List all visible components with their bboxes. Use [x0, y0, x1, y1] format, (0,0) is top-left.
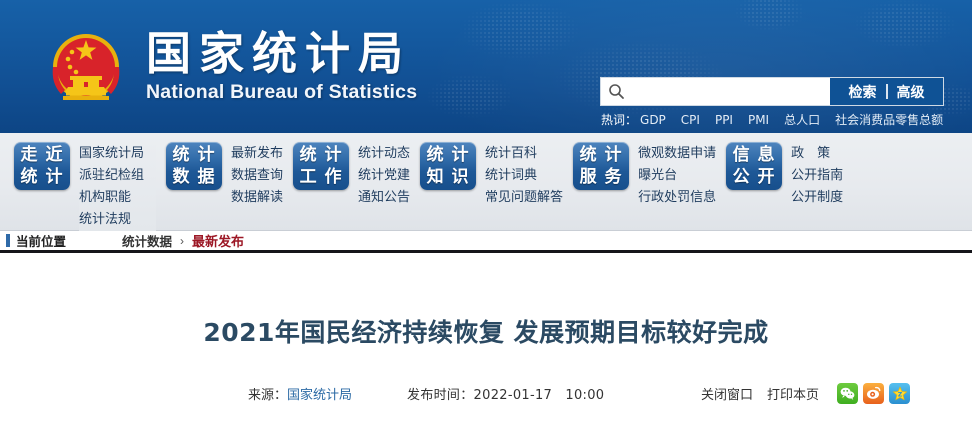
breadcrumb-accent-icon [6, 234, 10, 247]
hot-word-ppi[interactable]: PPI [715, 113, 733, 127]
main-navigation: 走 近 统 计 国家统计局 派驻纪检组 机构职能 统计法规 统 计 数 据 最新… [0, 133, 972, 231]
nav-link-regulations[interactable]: 统计法规 [79, 209, 144, 231]
share-icons: Z [837, 383, 910, 404]
nav-group-statistical-data: 统 计 数 据 最新发布 数据查询 数据解读 [166, 142, 283, 231]
nav-link-discipline-group[interactable]: 派驻纪检组 [79, 165, 144, 187]
time-value: 2022-01-17 10:00 [474, 388, 605, 403]
breadcrumb: 当前位置 统计数据 › 最新发布 [0, 231, 972, 253]
nav-group-statistical-services: 统 计 服 务 微观数据申请 曝光台 行政处罚信息 [573, 142, 716, 231]
search-submit-button[interactable]: 检索 [840, 82, 886, 102]
nav-button-line1: 走 近 [21, 144, 64, 166]
nav-button-statistical-services[interactable]: 统 计 服 务 [573, 142, 629, 190]
nav-button-statistical-data[interactable]: 统 计 数 据 [166, 142, 222, 190]
nav-row: 走 近 统 计 国家统计局 派驻纪检组 机构职能 统计法规 统 计 数 据 最新… [0, 133, 972, 231]
favorite-star-icon[interactable]: Z [889, 383, 910, 404]
nav-link-statistical-news[interactable]: 统计动态 [358, 143, 410, 165]
article-meta: 来源：国家统计局 发布时间：2022-01-17 10:00 关闭窗口 打印本页 [0, 383, 972, 404]
source-label: 来源： [248, 388, 287, 403]
nav-button-statistical-work[interactable]: 统 计 工 作 [293, 142, 349, 190]
nav-link-faq[interactable]: 常见问题解答 [485, 187, 563, 209]
nav-button-line2: 知 识 [427, 166, 470, 188]
nav-link-data-query[interactable]: 数据查询 [231, 165, 283, 187]
weibo-icon[interactable] [863, 383, 884, 404]
search-field[interactable] [601, 78, 830, 105]
nav-link-announcements[interactable]: 通知公告 [358, 187, 410, 209]
time-label: 发布时间： [407, 388, 474, 403]
nav-button-line2: 公 开 [733, 166, 776, 188]
wechat-icon[interactable] [837, 383, 858, 404]
article-source: 来源：国家统计局 [248, 384, 352, 403]
nav-button-line1: 信 息 [733, 144, 776, 166]
nav-button-line1: 统 计 [173, 144, 216, 166]
close-window-button[interactable]: 关闭窗口 [701, 384, 753, 403]
breadcrumb-current: 最新发布 [192, 231, 244, 250]
nav-group-approach-statistics: 走 近 统 计 国家统计局 派驻纪检组 机构职能 统计法规 [14, 142, 156, 231]
nav-button-approach-statistics[interactable]: 走 近 统 计 [14, 142, 70, 190]
print-page-button[interactable]: 打印本页 [767, 384, 819, 403]
nav-button-line2: 统 计 [21, 166, 64, 188]
nav-link-policy[interactable]: 政 策 [791, 143, 843, 165]
nav-button-statistical-knowledge[interactable]: 统 计 知 识 [420, 142, 476, 190]
nav-button-line2: 数 据 [173, 166, 216, 188]
nav-link-bureau[interactable]: 国家统计局 [79, 143, 144, 165]
article: 2021年国民经济持续恢复 发展预期目标较好完成 来源：国家统计局 发布时间：2… [0, 253, 972, 404]
nav-links-information-disclosure: 政 策 公开指南 公开制度 [791, 142, 843, 209]
nav-links-statistical-work: 统计动态 统计党建 通知公告 [358, 142, 410, 209]
hot-word-population[interactable]: 总人口 [784, 111, 820, 128]
nav-button-line1: 统 计 [427, 144, 470, 166]
nav-group-statistical-knowledge: 统 计 知 识 统计百科 统计词典 常见问题解答 [420, 142, 563, 231]
nav-link-disclosure-system[interactable]: 公开制度 [791, 187, 843, 209]
advanced-search-button[interactable]: 高级 [888, 82, 934, 102]
nav-link-functions[interactable]: 机构职能 [79, 187, 144, 209]
site-header: 国家统计局 National Bureau of Statistics 检索 高… [0, 0, 972, 133]
search-bar[interactable]: 检索 高级 [600, 77, 944, 106]
breadcrumb-parent[interactable]: 统计数据 [122, 231, 172, 250]
nav-link-data-interpretation[interactable]: 数据解读 [231, 187, 283, 209]
nav-button-line1: 统 计 [300, 144, 343, 166]
nav-button-line2: 工 作 [300, 166, 343, 188]
article-actions: 关闭窗口 打印本页 [687, 383, 910, 404]
nav-button-information-disclosure[interactable]: 信 息 公 开 [726, 142, 782, 190]
national-emblem-icon [46, 26, 126, 108]
nav-link-microdata-application[interactable]: 微观数据申请 [638, 143, 716, 165]
site-title-cn: 国家统计局 [146, 30, 417, 77]
svg-text:Z: Z [897, 391, 902, 398]
source-value: 国家统计局 [287, 388, 352, 403]
hot-words: 热词： GDP CPI PPI PMI 总人口 社会消费品零售总额 [601, 111, 943, 128]
search-actions[interactable]: 检索 高级 [830, 78, 943, 105]
breadcrumb-label: 当前位置 [16, 231, 66, 250]
chevron-right-icon: › [180, 234, 184, 248]
nav-button-line1: 统 计 [580, 144, 623, 166]
nav-link-dictionary[interactable]: 统计词典 [485, 165, 563, 187]
nav-links-statistical-services: 微观数据申请 曝光台 行政处罚信息 [638, 142, 716, 209]
hot-words-label: 热词： [601, 111, 637, 128]
hot-word-retail-sales[interactable]: 社会消费品零售总额 [835, 111, 943, 128]
search-input[interactable] [625, 79, 830, 104]
site-title-en: National Bureau of Statistics [146, 81, 417, 104]
nav-links-approach-statistics: 国家统计局 派驻纪检组 机构职能 统计法规 [79, 142, 156, 231]
nav-links-statistical-knowledge: 统计百科 统计词典 常见问题解答 [485, 142, 563, 209]
nav-group-statistical-work: 统 计 工 作 统计动态 统计党建 通知公告 [293, 142, 410, 231]
button-divider [886, 84, 888, 99]
nav-links-statistical-data: 最新发布 数据查询 数据解读 [231, 142, 283, 209]
site-title-block: 国家统计局 National Bureau of Statistics [146, 30, 417, 104]
search-icon [608, 83, 625, 100]
hot-word-gdp[interactable]: GDP [640, 113, 666, 127]
nav-link-latest-release[interactable]: 最新发布 [231, 143, 283, 165]
nav-link-party-building[interactable]: 统计党建 [358, 165, 410, 187]
nav-button-line2: 服 务 [580, 166, 623, 188]
hot-word-pmi[interactable]: PMI [748, 113, 769, 127]
nav-link-encyclopedia[interactable]: 统计百科 [485, 143, 563, 165]
nav-link-exposure-desk[interactable]: 曝光台 [638, 165, 716, 187]
article-publish-time: 发布时间：2022-01-17 10:00 [407, 384, 604, 403]
nav-link-penalty-info[interactable]: 行政处罚信息 [638, 187, 716, 209]
nav-group-information-disclosure: 信 息 公 开 政 策 公开指南 公开制度 [726, 142, 843, 231]
hot-word-cpi[interactable]: CPI [681, 113, 700, 127]
nav-link-disclosure-guide[interactable]: 公开指南 [791, 165, 843, 187]
page-title: 2021年国民经济持续恢复 发展预期目标较好完成 [0, 253, 972, 349]
site-brand[interactable]: 国家统计局 National Bureau of Statistics [46, 26, 417, 108]
